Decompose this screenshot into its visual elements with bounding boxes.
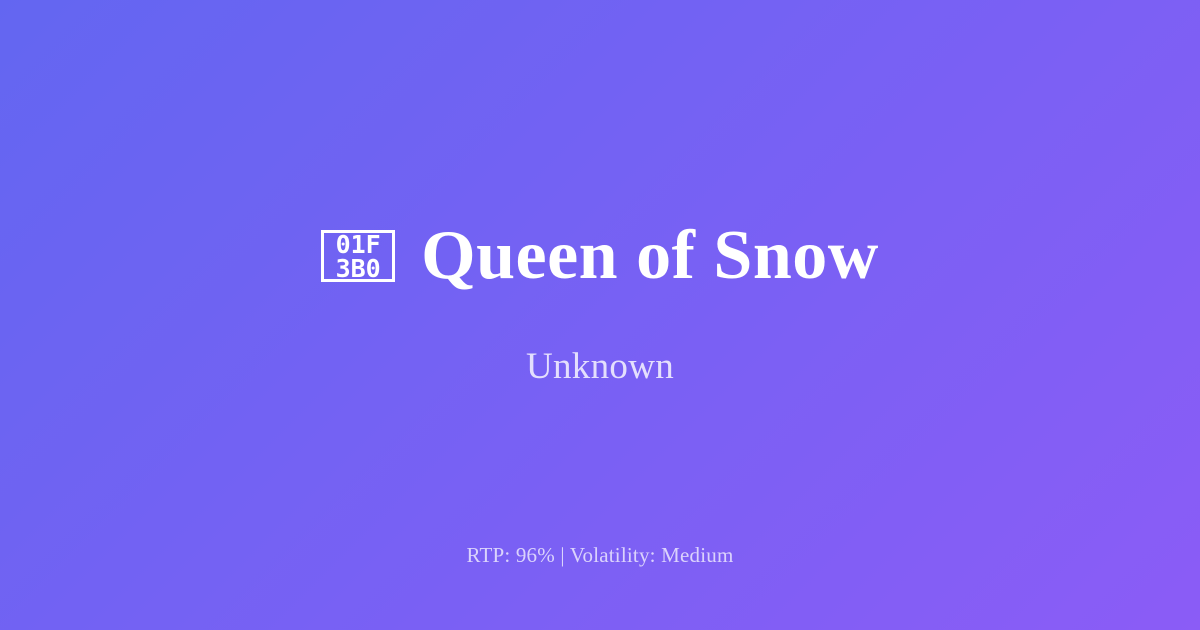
slot-machine-icon-codepoint-bottom: 3B0 (336, 256, 381, 280)
title-row: 01F 3B0 Queen of Snow (321, 219, 879, 293)
game-share-card: 01F 3B0 Queen of Snow Unknown RTP: 96% |… (0, 0, 1200, 630)
card-footer: RTP: 96% | Volatility: Medium (0, 543, 1200, 568)
game-stats-line: RTP: 96% | Volatility: Medium (467, 543, 734, 568)
slot-machine-icon-codepoint-top: 01F (336, 232, 381, 256)
game-provider: Unknown (526, 345, 674, 389)
card-content: 01F 3B0 Queen of Snow Unknown (0, 219, 1200, 389)
slot-machine-icon: 01F 3B0 (321, 230, 395, 282)
game-title: Queen of Snow (421, 219, 879, 293)
